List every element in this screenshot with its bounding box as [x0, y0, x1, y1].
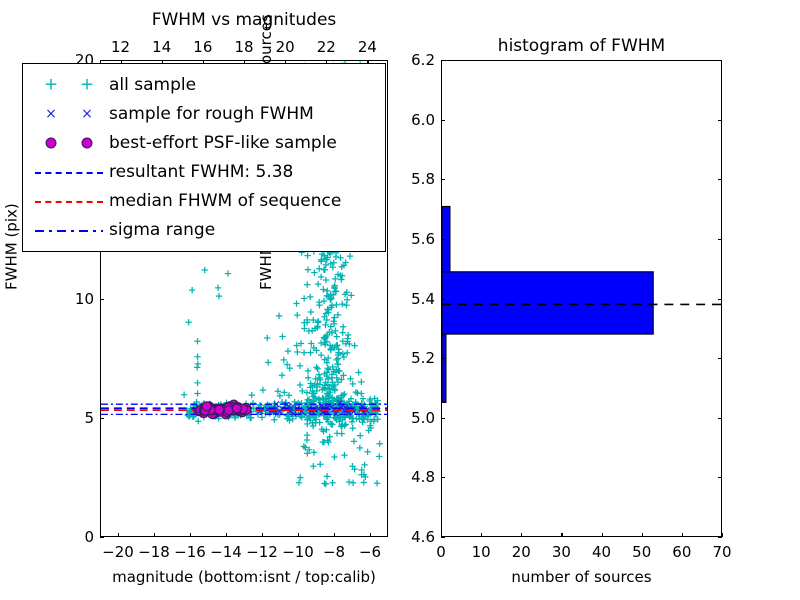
right-y-tick-mirror: [718, 537, 722, 538]
legend-key-x-marker: ××: [31, 104, 109, 124]
right-x-tick: [682, 533, 683, 537]
right-y-tick: [441, 477, 445, 478]
left-x-tick-label: −16: [174, 543, 206, 561]
right-y-tick-label: 4.6: [393, 528, 435, 546]
legend-item-label: sample for rough FWHM: [109, 104, 314, 124]
legend-key-plus-marker: ++: [31, 75, 109, 95]
right-x-tick: [561, 533, 562, 537]
left-y-axis-label: FWHM (pix): [3, 203, 21, 290]
legend-item-label: median FHWM of sequence: [109, 191, 341, 211]
right-y-tick-label: 5.6: [393, 230, 435, 248]
right-plot-title: histogram of FWHM: [498, 36, 665, 56]
right-x-tick-label: 30: [552, 543, 571, 561]
left-top-tick-label: 16: [193, 38, 212, 56]
right-y-tick-mirror: [718, 418, 722, 419]
right-x-tick: [722, 533, 723, 537]
left-x-tick: [226, 533, 227, 537]
left-y-tick: [100, 60, 104, 61]
histogram-bar: [442, 334, 446, 402]
right-y-tick: [441, 120, 445, 121]
legend-item-label: all sample: [109, 75, 196, 95]
right-x-tick-label: 70: [712, 543, 731, 561]
right-y-tick-mirror: [718, 179, 722, 180]
left-top-tick-label: 12: [111, 38, 130, 56]
figure-canvas: FWHM vs magnitudes magnitude (bottom:isn…: [0, 0, 800, 600]
right-y-tick: [441, 358, 445, 359]
histogram-bar: [442, 272, 653, 334]
left-top-tick-label: 22: [317, 38, 336, 56]
left-x-tick: [262, 533, 263, 537]
left-y-tick: [100, 537, 104, 538]
left-x-tick-label: −18: [138, 543, 170, 561]
cross-icon: ×: [45, 107, 57, 121]
right-x-tick-label: 0: [436, 543, 446, 561]
left-x-tick-label: −20: [102, 543, 134, 561]
right-y-tick: [441, 179, 445, 180]
right-x-tick-label: 10: [472, 543, 491, 561]
left-x-tick-label: −8: [323, 543, 345, 561]
right-y-tick-mirror: [718, 60, 722, 61]
right-y-tick: [441, 60, 445, 61]
right-y-tick: [441, 239, 445, 240]
right-x-tick-label: 40: [592, 543, 611, 561]
left-y-tick: [100, 418, 104, 419]
right-y-tick-label: 5.2: [393, 349, 435, 367]
right-x-axis-label: number of sources: [511, 568, 651, 586]
left-x-tick-label: −6: [359, 543, 381, 561]
left-x-tick: [370, 533, 371, 537]
right-y-tick-label: 6.2: [393, 51, 435, 69]
legend-item-label: resultant FWHM: 5.38: [109, 162, 293, 182]
right-y-tick-label: 5.8: [393, 170, 435, 188]
left-top-tick-label: 14: [152, 38, 171, 56]
left-x-tick: [118, 533, 119, 537]
legend-key-dashed-line: [31, 191, 109, 211]
fwhm-histogram-axes: [441, 60, 722, 537]
dashed-line-icon: [35, 172, 103, 174]
left-x-tick: [154, 533, 155, 537]
left-top-tick-label: 24: [358, 38, 377, 56]
plus-icon: +: [44, 76, 58, 93]
left-x-axis-label: magnitude (bottom:isnt / top:calib): [112, 568, 376, 586]
right-y-tick-mirror: [718, 120, 722, 121]
right-y-tick-label: 5.4: [393, 290, 435, 308]
left-top-tick-label: 18: [234, 38, 253, 56]
legend-item: median FHWM of sequence: [23, 186, 385, 215]
right-y-tick-label: 6.0: [393, 111, 435, 129]
left-y-tick-label: 10: [64, 290, 94, 308]
right-x-tick: [642, 533, 643, 537]
cross-icon: ×: [81, 107, 93, 121]
right-x-tick-label: 20: [512, 543, 531, 561]
legend-item: sigma range: [23, 215, 385, 244]
left-x-tick-label: −14: [210, 543, 242, 561]
right-x-tick: [602, 533, 603, 537]
left-x-tick: [298, 533, 299, 537]
legend-key-dashdot-line: [31, 220, 109, 240]
legend-item-label: best-effort PSF-like sample: [109, 133, 337, 153]
left-y-tick: [100, 299, 104, 300]
legend-item: best-effort PSF-like sample: [23, 128, 385, 157]
legend-item-label: sigma range: [109, 220, 215, 240]
right-y-tick: [441, 299, 445, 300]
left-x-tick: [334, 533, 335, 537]
legend-item: resultant FWHM: 5.38: [23, 157, 385, 186]
legend-key-circle-marker: [31, 133, 109, 153]
histogram-data-layer: [442, 61, 721, 536]
right-x-tick: [521, 533, 522, 537]
left-y-tick-label: 5: [64, 409, 94, 427]
right-y-tick: [441, 537, 445, 538]
left-y-tick-label: 0: [64, 528, 94, 546]
right-x-tick-label: 50: [632, 543, 651, 561]
right-y-tick-label: 4.8: [393, 468, 435, 486]
left-top-tick-label: 20: [276, 38, 295, 56]
right-x-tick-label: 60: [672, 543, 691, 561]
right-y-tick-mirror: [718, 358, 722, 359]
legend: ++all sample××sample for rough FWHMbest-…: [22, 63, 386, 252]
right-x-tick: [481, 533, 482, 537]
right-y-tick-mirror: [718, 239, 722, 240]
right-y-tick-mirror: [718, 477, 722, 478]
right-y-tick-label: 5.0: [393, 409, 435, 427]
left-x-tick-label: −10: [282, 543, 314, 561]
legend-item: ××sample for rough FWHM: [23, 99, 385, 128]
right-y-tick-mirror: [718, 299, 722, 300]
legend-item: ++all sample: [23, 70, 385, 99]
left-x-tick-label: −12: [246, 543, 278, 561]
left-x-tick: [190, 533, 191, 537]
left-plot-title: FWHM vs magnitudes: [152, 10, 337, 30]
right-y-tick: [441, 418, 445, 419]
circle-icon: [82, 137, 93, 148]
plus-icon: +: [80, 76, 94, 93]
dashed-line-icon: [35, 201, 103, 203]
legend-key-dashed-line: [31, 162, 109, 182]
dashdot-line-icon: [35, 230, 103, 233]
circle-icon: [46, 137, 57, 148]
